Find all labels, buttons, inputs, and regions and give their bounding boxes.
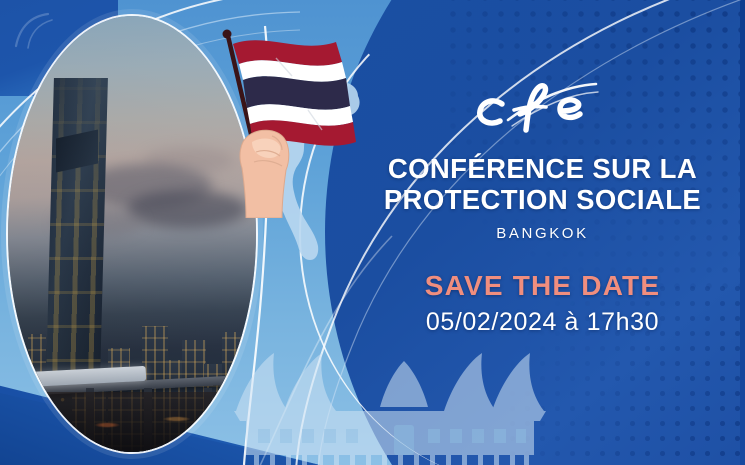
thailand-flag-icon [233, 40, 356, 145]
save-the-date-label: SAVE THE DATE [425, 270, 660, 302]
title-line-1: CONFÉRENCE SUR LA [388, 153, 697, 184]
page-title: CONFÉRENCE SUR LA PROTECTION SOCIALE [353, 154, 733, 216]
raised-hand-icon [240, 130, 289, 218]
subtitle-city: BANGKOK [496, 225, 588, 242]
hand-holding-thailand-flag [196, 18, 361, 218]
save-the-date-poster: CONFÉRENCE SUR LA PROTECTION SOCIALE BAN… [0, 0, 745, 465]
title-line-2: PROTECTION SOCIALE [353, 185, 733, 216]
poster-content: CONFÉRENCE SUR LA PROTECTION SOCIALE BAN… [340, 0, 745, 465]
cfe-logo[interactable] [468, 78, 618, 140]
event-date: 05/02/2024 à 17h30 [426, 308, 659, 337]
